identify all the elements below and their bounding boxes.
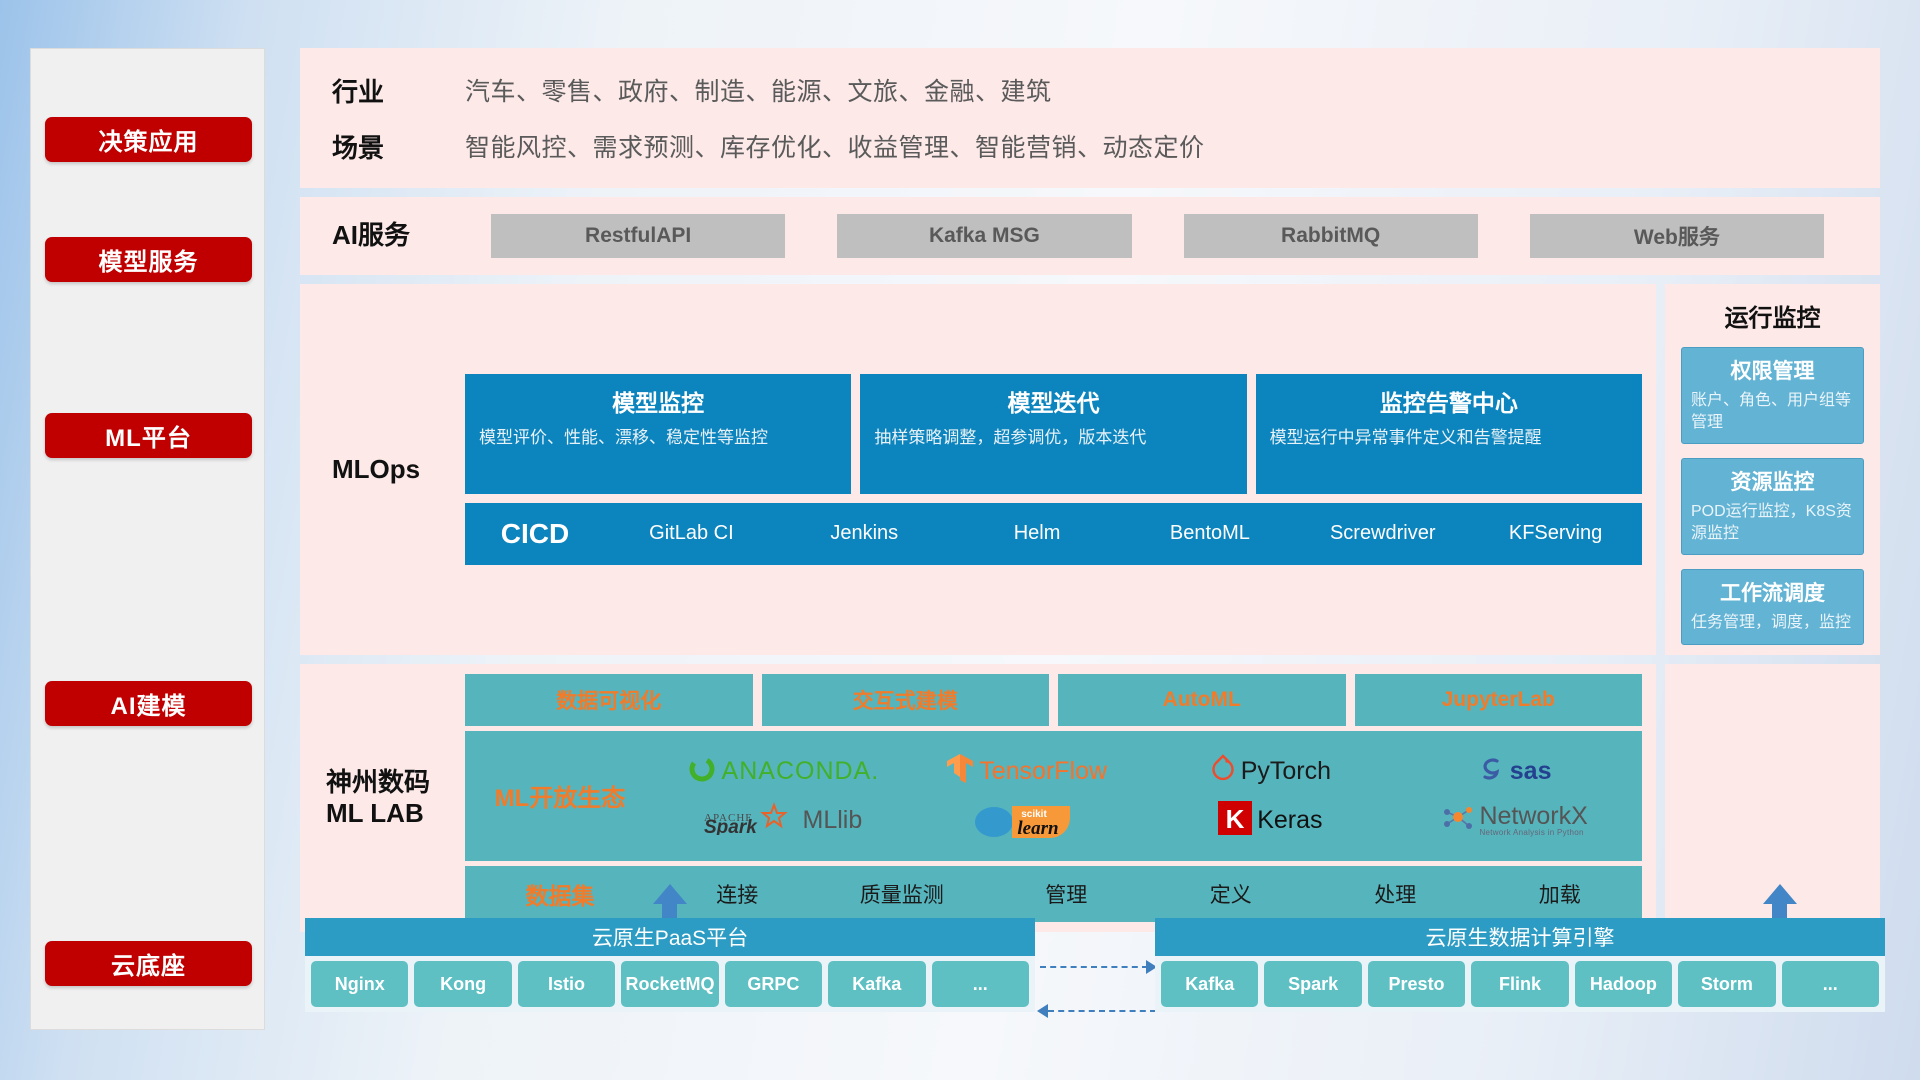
tab-interactive-modeling[interactable]: 交互式建模 <box>762 674 1050 726</box>
arrow-stem-left <box>662 902 677 918</box>
ai-service-label: AI服务 <box>300 221 465 251</box>
compute-stack: 云原生数据计算引擎 Kafka Spark Presto Flink Hadoo… <box>1155 918 1885 1012</box>
tensorflow-label: TensorFlow <box>979 757 1107 786</box>
rail-chip-label: ML平台 <box>105 418 192 453</box>
main-diagram: 行业 汽车、零售、政府、制造、能源、文旅、金融、建筑 场景 智能风控、需求预测、… <box>300 48 1880 932</box>
paas-chip[interactable]: RocketMQ <box>621 961 718 1007</box>
tab-data-visualization[interactable]: 数据可视化 <box>465 674 753 726</box>
anaconda-logo-group: ANACONDA. <box>687 754 880 789</box>
keras-logo-group: K Keras <box>1218 801 1322 840</box>
paas-chip[interactable]: Istio <box>518 961 615 1007</box>
paas-title: 云原生PaaS平台 <box>305 918 1035 956</box>
networkx-label: NetworkX <box>1479 804 1587 829</box>
svg-text:K: K <box>1226 804 1245 834</box>
left-rail: 决策应用 模型服务 ML平台 AI建模 云底座 <box>30 48 265 1030</box>
pytorch-label: PyTorch <box>1241 757 1331 786</box>
rail-chip-decision-apps[interactable]: 决策应用 <box>45 117 252 162</box>
compute-chip[interactable]: Hadoop <box>1575 961 1672 1007</box>
ai-service-item[interactable]: Kafka MSG <box>837 214 1131 258</box>
mlops-card-model-monitoring[interactable]: 模型监控 模型评价、性能、漂移、稳定性等监控 <box>465 374 851 494</box>
mlops-card-title: 模型迭代 <box>874 384 1232 418</box>
paas-chip[interactable]: Kong <box>414 961 511 1007</box>
spark-logo-group: APACHE Spark MLlib <box>704 801 863 840</box>
run-monitor-panel: 运行监控 权限管理 账户、角色、用户组等管理 资源监控 POD运行监控，K8S资… <box>1665 284 1880 655</box>
scikit-learn-logo-group: scikit learn <box>972 796 1082 845</box>
tensorflow-icon <box>946 753 974 790</box>
industry-label: 行业 <box>300 72 465 109</box>
pytorch-icon <box>1210 754 1236 789</box>
mlops-cards: 模型监控 模型评价、性能、漂移、稳定性等监控 模型迭代 抽样策略调整，超参调优，… <box>465 374 1642 494</box>
spark-icon: APACHE Spark <box>704 801 798 840</box>
mlops-band: MLOps 模型监控 模型评价、性能、漂移、稳定性等监控 模型迭代 抽样策略调整… <box>300 284 1656 655</box>
run-monitor-card-title: 工作流调度 <box>1691 577 1854 607</box>
sas-icon <box>1477 755 1505 788</box>
cicd-item[interactable]: Jenkins <box>778 523 951 544</box>
networkx-icon <box>1440 802 1474 839</box>
arrow-stem-right <box>1772 902 1787 918</box>
rail-chip-label: 决策应用 <box>99 122 199 157</box>
mlops-label: MLOps <box>300 455 465 485</box>
rail-chip-label: AI建模 <box>111 686 187 721</box>
ml-lab-tabs: 数据可视化 交互式建模 AutoML JupyterLab <box>465 674 1642 726</box>
ml-lab-label-line2: ML LAB <box>326 798 465 829</box>
mlops-card-title: 监控告警中心 <box>1270 384 1628 418</box>
arrow-up-compute <box>1763 884 1797 904</box>
ml-lab-label-line1: 神州数码 <box>326 767 465 798</box>
industry-row: 行业 汽车、零售、政府、制造、能源、文旅、金融、建筑 <box>300 62 1880 118</box>
sas-logo-group: sas <box>1477 755 1552 788</box>
rail-chip-ai-modeling[interactable]: AI建模 <box>45 681 252 726</box>
ai-service-item[interactable]: RestfulAPI <box>491 214 785 258</box>
networkx-logo-group: NetworkX Network Analysis in Python <box>1440 802 1587 839</box>
ml-lab-label: 神州数码 ML LAB <box>300 767 465 829</box>
keras-label: Keras <box>1257 806 1322 835</box>
run-monitor-card-title: 权限管理 <box>1691 355 1854 385</box>
svg-text:learn: learn <box>1017 818 1058 839</box>
mlops-body: 模型监控 模型评价、性能、漂移、稳定性等监控 模型迭代 抽样策略调整，超参调优，… <box>465 374 1656 565</box>
anaconda-icon <box>687 754 717 789</box>
dashed-arrow-left <box>1037 1004 1048 1018</box>
compute-chip[interactable]: Flink <box>1471 961 1568 1007</box>
tab-automl[interactable]: AutoML <box>1058 674 1346 726</box>
cloud-base-section: 云原生PaaS平台 Nginx Kong Istio RocketMQ GRPC… <box>300 890 1880 1040</box>
cicd-strip: CICD GitLab CI Jenkins Helm BentoML Scre… <box>465 503 1642 565</box>
tab-jupyterlab[interactable]: JupyterLab <box>1355 674 1643 726</box>
run-monitor-card-desc: 账户、角色、用户组等管理 <box>1691 390 1854 433</box>
mlops-card-desc: 模型评价、性能、漂移、稳定性等监控 <box>479 426 837 450</box>
cicd-item[interactable]: BentoML <box>1123 523 1296 544</box>
run-monitor-card-desc: POD运行监控，K8S资源监控 <box>1691 501 1854 544</box>
compute-title: 云原生数据计算引擎 <box>1155 918 1885 956</box>
dashed-link-right <box>1040 966 1148 968</box>
cicd-item[interactable]: GitLab CI <box>605 523 778 544</box>
scikit-learn-icon: scikit learn <box>972 796 1082 845</box>
run-monitor-card-workflow[interactable]: 工作流调度 任务管理，调度，监控 <box>1681 569 1864 645</box>
run-monitor-card-desc: 任务管理，调度，监控 <box>1691 612 1854 634</box>
decision-apps-band: 行业 汽车、零售、政府、制造、能源、文旅、金融、建筑 场景 智能风控、需求预测、… <box>300 48 1880 188</box>
tensorflow-logo-group: TensorFlow <box>946 753 1107 790</box>
rail-chip-model-service[interactable]: 模型服务 <box>45 237 252 282</box>
compute-chip[interactable]: Kafka <box>1161 961 1258 1007</box>
compute-chip[interactable]: Spark <box>1264 961 1361 1007</box>
arrow-up-paas <box>653 884 687 904</box>
scenario-values: 智能风控、需求预测、库存优化、收益管理、智能营销、动态定价 <box>465 128 1205 164</box>
rail-chip-label: 模型服务 <box>99 242 199 277</box>
ai-service-item[interactable]: RabbitMQ <box>1184 214 1478 258</box>
svg-text:Spark: Spark <box>704 817 758 835</box>
ml-ecosystem-title: ML开放生态 <box>465 778 655 813</box>
keras-icon: K <box>1218 801 1252 840</box>
cicd-title: CICD <box>465 518 605 550</box>
scenario-label: 场景 <box>300 128 465 165</box>
mlops-card-desc: 抽样策略调整，超参调优，版本迭代 <box>874 426 1232 450</box>
run-monitor-title: 运行监控 <box>1681 298 1864 333</box>
paas-chip-more[interactable]: ... <box>932 961 1029 1007</box>
cicd-item[interactable]: Helm <box>951 523 1124 544</box>
run-monitor-card-permission[interactable]: 权限管理 账户、角色、用户组等管理 <box>1681 347 1864 444</box>
compute-chip-more[interactable]: ... <box>1782 961 1879 1007</box>
mlops-card-model-iteration[interactable]: 模型迭代 抽样策略调整，超参调优，版本迭代 <box>860 374 1246 494</box>
mlops-section: MLOps 模型监控 模型评价、性能、漂移、稳定性等监控 模型迭代 抽样策略调整… <box>300 284 1880 655</box>
ai-service-band: AI服务 RestfulAPI Kafka MSG RabbitMQ Web服务 <box>300 197 1880 275</box>
run-monitor-card-resource[interactable]: 资源监控 POD运行监控，K8S资源监控 <box>1681 458 1864 555</box>
anaconda-label: ANACONDA. <box>722 757 880 786</box>
mlops-card-title: 模型监控 <box>479 384 837 418</box>
cicd-item[interactable]: Screwdriver <box>1296 523 1469 544</box>
run-monitor-card-title: 资源监控 <box>1691 466 1854 496</box>
dashed-link-left <box>1048 1010 1156 1012</box>
cicd-item[interactable]: KFServing <box>1469 523 1642 544</box>
compute-chip[interactable]: Storm <box>1678 961 1775 1007</box>
industry-values: 汽车、零售、政府、制造、能源、文旅、金融、建筑 <box>465 72 1052 108</box>
paas-chip[interactable]: Nginx <box>311 961 408 1007</box>
ml-ecosystem-row: ML开放生态 ANACONDA. <box>465 731 1642 861</box>
rail-chip-ml-platform[interactable]: ML平台 <box>45 413 252 458</box>
mllib-label: MLlib <box>803 806 863 835</box>
scenario-row: 场景 智能风控、需求预测、库存优化、收益管理、智能营销、动态定价 <box>300 118 1880 174</box>
ml-lab-body: 数据可视化 交互式建模 AutoML JupyterLab ML开放生态 ANA… <box>465 674 1656 922</box>
mlops-card-alert-center[interactable]: 监控告警中心 模型运行中异常事件定义和告警提醒 <box>1256 374 1642 494</box>
pytorch-logo-group: PyTorch <box>1210 754 1331 789</box>
paas-chip[interactable]: GRPC <box>725 961 822 1007</box>
ml-ecosystem-logos: ANACONDA. TensorFlow <box>655 743 1642 849</box>
ai-service-item[interactable]: Web服务 <box>1530 214 1824 258</box>
paas-stack: 云原生PaaS平台 Nginx Kong Istio RocketMQ GRPC… <box>305 918 1035 1012</box>
ai-service-items: RestfulAPI Kafka MSG RabbitMQ Web服务 <box>465 214 1880 258</box>
paas-chip[interactable]: Kafka <box>828 961 925 1007</box>
rail-chip-label: 云底座 <box>111 946 186 981</box>
networkx-tagline: Network Analysis in Python <box>1479 829 1587 837</box>
paas-chips: Nginx Kong Istio RocketMQ GRPC Kafka ... <box>305 956 1035 1012</box>
compute-chip[interactable]: Presto <box>1368 961 1465 1007</box>
compute-chips: Kafka Spark Presto Flink Hadoop Storm ..… <box>1155 956 1885 1012</box>
sas-label: sas <box>1510 757 1552 786</box>
rail-chip-cloud-base[interactable]: 云底座 <box>45 941 252 986</box>
mlops-card-desc: 模型运行中异常事件定义和告警提醒 <box>1270 426 1628 450</box>
